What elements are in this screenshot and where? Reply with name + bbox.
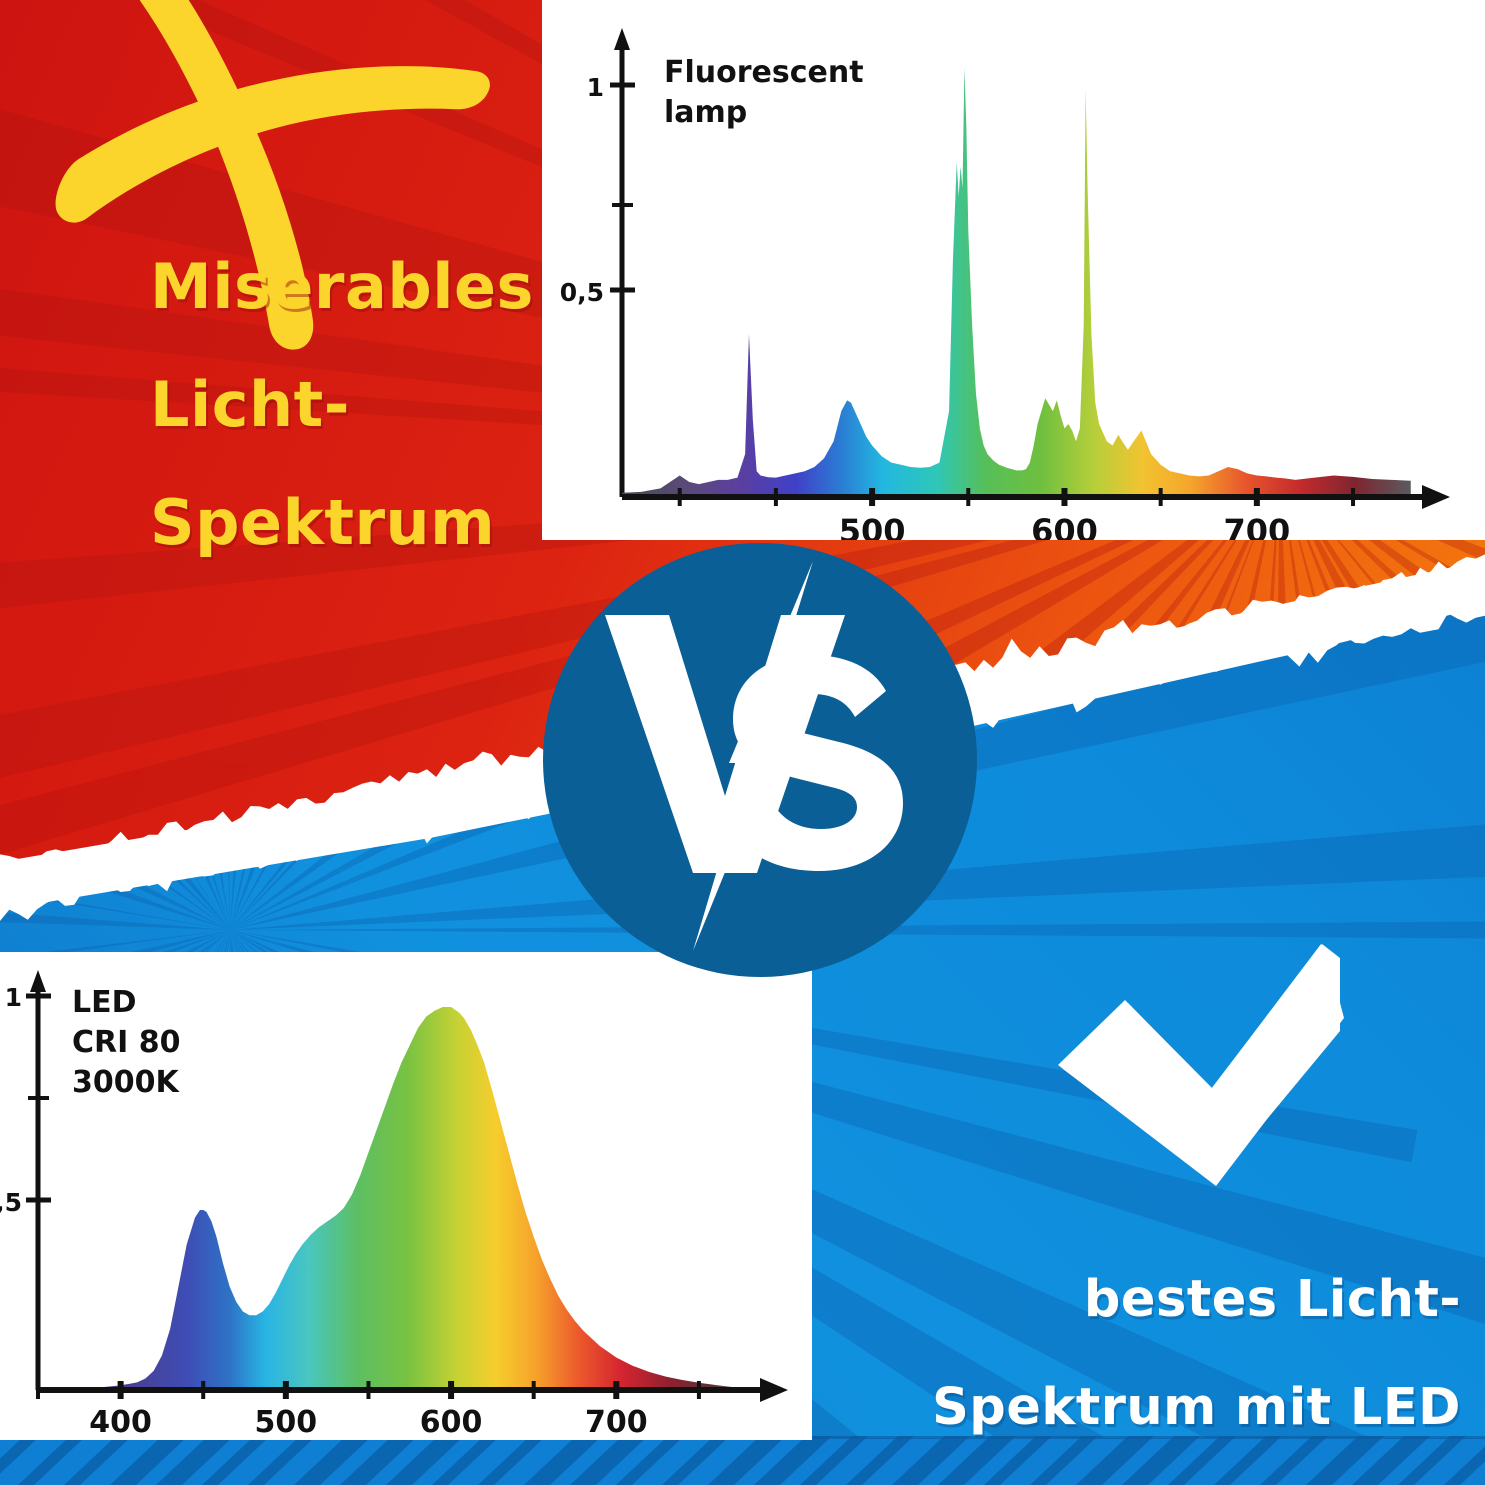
left-headline-line-2: Licht- xyxy=(150,346,570,464)
led-spectrum-chart: LED CRI 80 3000K 1 0,5 400500600700 xyxy=(0,952,812,1440)
led-chart-title-line-1: LED xyxy=(72,985,137,1020)
x-tick-label: 400 xyxy=(89,1405,152,1440)
versus-badge-graphic xyxy=(543,543,977,977)
x-tick-label: 500 xyxy=(839,512,906,540)
led-chart-card: LED CRI 80 3000K 1 0,5 400500600700 xyxy=(0,952,812,1440)
fluorescent-chart-title-line-1: Fluorescent xyxy=(664,55,864,90)
led-y-tick-05: 0,5 xyxy=(0,1188,22,1217)
fluorescent-spectrum-chart: Fluorescent lamp 1 0,5 500600700 xyxy=(542,0,1485,540)
x-tick-label: 700 xyxy=(585,1405,648,1440)
right-headline-line-1: bestes Licht- xyxy=(701,1246,1461,1354)
fluorescent-chart-title-line-2: lamp xyxy=(664,95,747,130)
right-headline: bestes Licht- Spektrum mit LED xyxy=(701,1246,1461,1462)
poster-canvas: Fluorescent lamp 1 0,5 500600700 xyxy=(0,0,1485,1485)
x-tick-label: 700 xyxy=(1223,512,1290,540)
fluorescent-chart-card: Fluorescent lamp 1 0,5 500600700 xyxy=(542,0,1485,540)
left-headline-line-1: Miserables xyxy=(150,228,570,346)
led-chart-title-line-2: CRI 80 xyxy=(72,1025,180,1060)
x-tick-label: 600 xyxy=(1031,512,1098,540)
left-headline: Miserables Licht- Spektrum xyxy=(150,228,570,582)
versus-badge xyxy=(543,543,977,977)
led-y-tick-1: 1 xyxy=(5,983,22,1012)
right-headline-line-2: Spektrum mit LED xyxy=(701,1354,1461,1462)
fluorescent-y-tick-1: 1 xyxy=(587,73,604,102)
left-headline-line-3: Spektrum xyxy=(150,464,570,582)
led-chart-title-line-3: 3000K xyxy=(72,1065,180,1100)
x-tick-label: 600 xyxy=(420,1405,483,1440)
x-tick-label: 500 xyxy=(255,1405,318,1440)
